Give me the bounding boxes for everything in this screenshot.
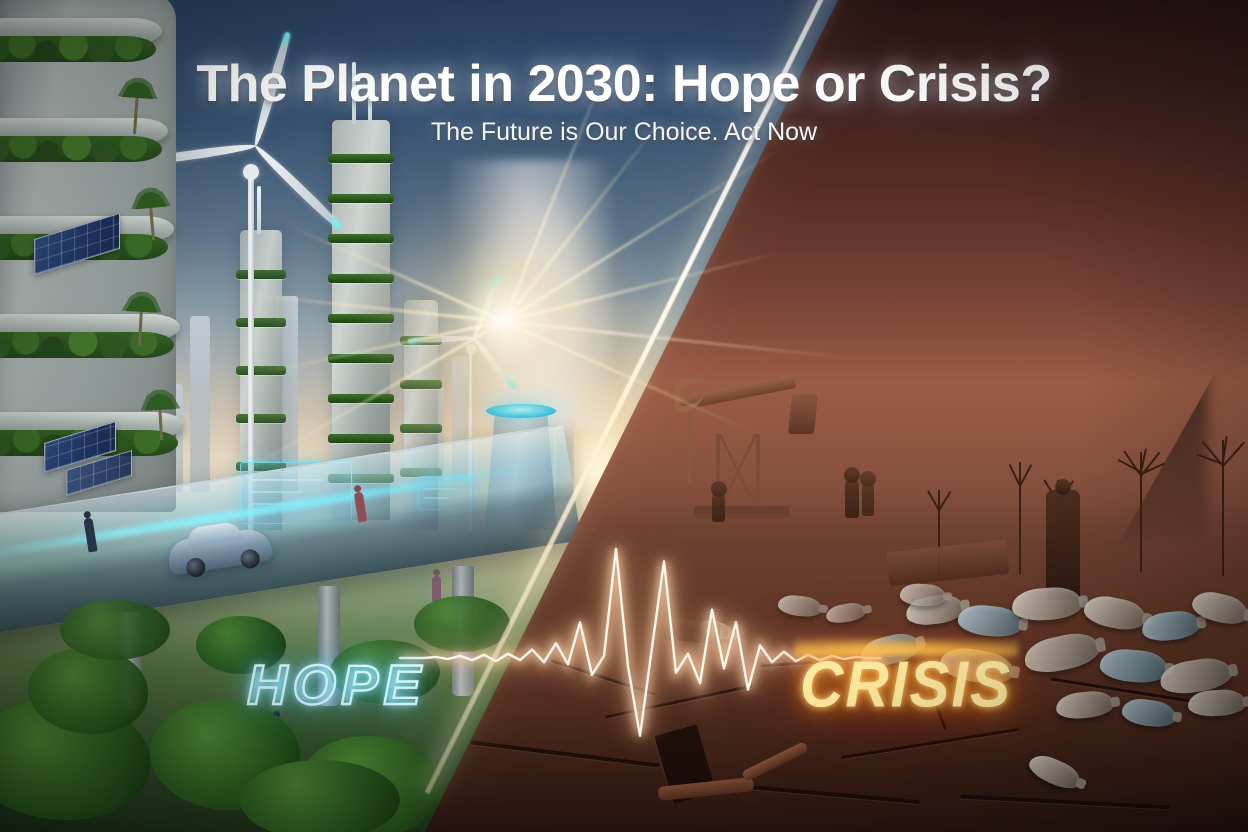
distant-worker <box>845 478 859 518</box>
shrub <box>60 600 170 660</box>
hope-neon-label: HOPE <box>247 652 426 717</box>
balcony-greenery <box>0 332 174 358</box>
poster-canvas: The Planet in 2030: Hope or Crisis? The … <box>0 0 1248 832</box>
crisis-fire-label: CRISIS <box>800 647 1012 722</box>
distant-worker <box>862 482 874 516</box>
masked-survivor <box>1046 490 1080 600</box>
shrub <box>240 760 400 832</box>
dead-plant <box>1120 452 1160 572</box>
distant-worker <box>712 492 725 522</box>
page-title: The Planet in 2030: Hope or Crisis? <box>0 54 1248 114</box>
dead-plant <box>1202 440 1242 576</box>
dead-plant <box>1004 462 1034 574</box>
oil-pumpjack <box>672 368 822 518</box>
crisis-label-text: CRISIS <box>800 648 1012 720</box>
page-subtitle: The Future is Our Choice. Act Now <box>0 118 1248 147</box>
